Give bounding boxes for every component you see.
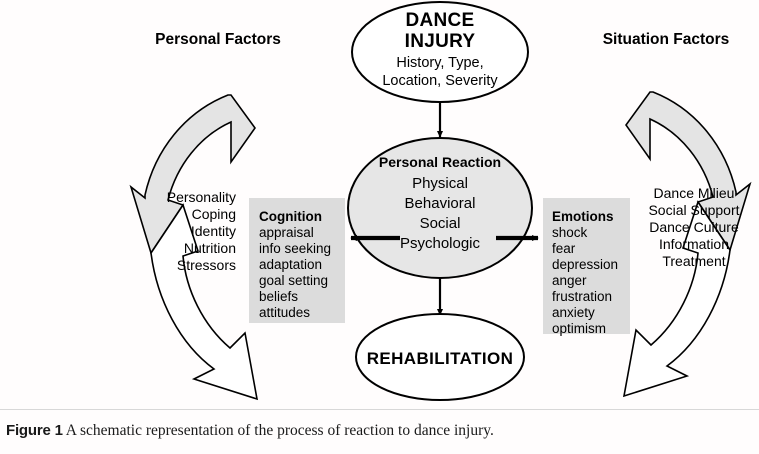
cognition-item-3: goal setting bbox=[259, 273, 328, 288]
emotions-item-3: anger bbox=[552, 273, 587, 288]
situation-factor-1: Social Support bbox=[648, 202, 739, 218]
personal-reaction-item-2: Social bbox=[420, 215, 461, 232]
cognition-item-1: info seeking bbox=[259, 241, 331, 256]
personal-reaction-item-3: Psychologic bbox=[400, 235, 481, 252]
situation-factor-3: Information bbox=[659, 236, 729, 252]
emotions-item-5: anxiety bbox=[552, 305, 595, 320]
cognition-item-2: adaptation bbox=[259, 257, 322, 272]
emotions-item-0: shock bbox=[552, 225, 588, 240]
emotions-title: Emotions bbox=[552, 209, 614, 224]
personal-factor-1: Coping bbox=[192, 206, 236, 222]
personal-reaction-item-0: Physical bbox=[412, 175, 468, 192]
cognition-item-0: appraisal bbox=[259, 225, 314, 240]
cognition-item-4: beliefs bbox=[259, 289, 298, 304]
dance-injury-sub-line2: Location, Severity bbox=[382, 73, 498, 89]
figure-container: Personal Factors Situation Factors DANCE… bbox=[0, 0, 759, 454]
cognition-title: Cognition bbox=[259, 209, 322, 224]
emotions-item-1: fear bbox=[552, 241, 576, 256]
caption-figure-text: A schematic representation of the proces… bbox=[66, 422, 494, 439]
schematic-diagram: Personal Factors Situation Factors DANCE… bbox=[0, 0, 759, 412]
diagram-area: Personal Factors Situation Factors DANCE… bbox=[0, 0, 759, 412]
caption-divider-rule bbox=[0, 409, 759, 410]
personal-reaction-title: Personal Reaction bbox=[379, 154, 501, 170]
dance-injury-title-line1: DANCE bbox=[405, 10, 474, 31]
figure-caption: Figure 1 A schematic representation of t… bbox=[0, 412, 759, 454]
personal-factor-3: Nutrition bbox=[184, 240, 236, 256]
personal-factor-2: Identity bbox=[191, 223, 236, 239]
situation-factor-0: Dance Milieu bbox=[654, 185, 735, 201]
situation-factor-4: Treatment bbox=[662, 253, 725, 269]
caption-figure-label: Figure 1 bbox=[6, 422, 63, 439]
personal-factor-4: Stressors bbox=[177, 257, 236, 273]
cognition-item-5: attitudes bbox=[259, 305, 310, 320]
dance-injury-title-line2: INJURY bbox=[405, 31, 476, 52]
emotions-item-4: frustration bbox=[552, 289, 612, 304]
situation-factors-header: Situation Factors bbox=[603, 31, 730, 48]
caption-line: Figure 1 A schematic representation of t… bbox=[6, 421, 751, 441]
emotions-item-6: optimism bbox=[552, 321, 606, 336]
dance-injury-sub-line1: History, Type, bbox=[396, 55, 483, 71]
personal-factors-header: Personal Factors bbox=[155, 31, 281, 48]
personal-reaction-item-1: Behavioral bbox=[405, 195, 476, 212]
personal-factor-0: Personality bbox=[167, 189, 236, 205]
rehabilitation-title: REHABILITATION bbox=[367, 349, 514, 368]
emotions-item-2: depression bbox=[552, 257, 618, 272]
situation-factor-2: Dance Culture bbox=[649, 219, 739, 235]
